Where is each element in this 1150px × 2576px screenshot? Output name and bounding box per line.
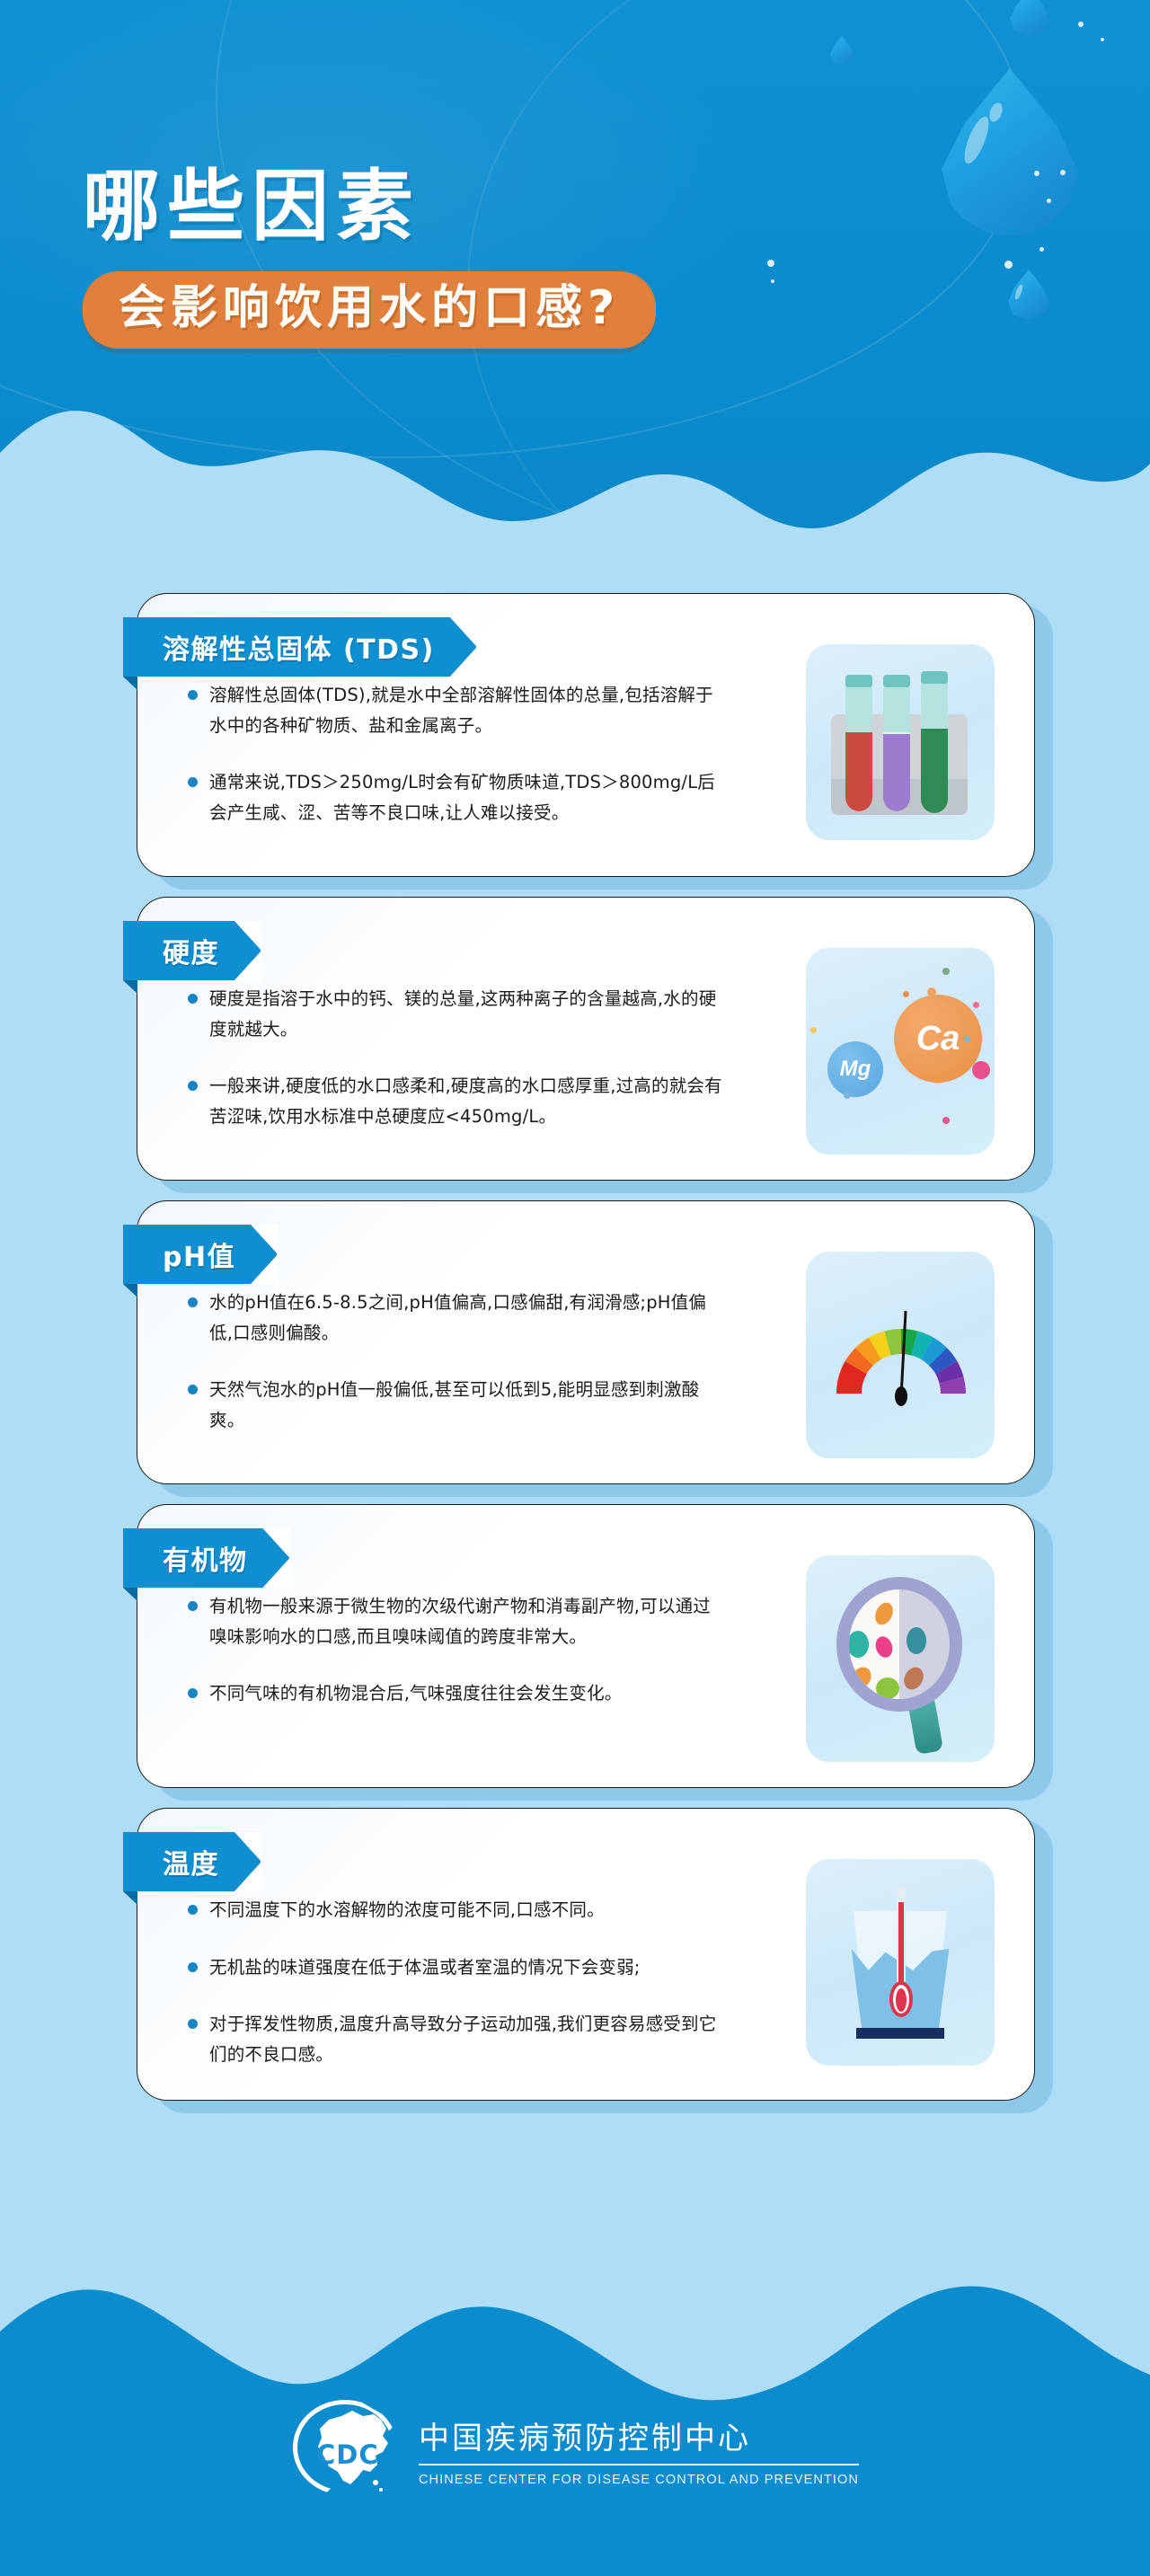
tube-cap <box>883 675 910 687</box>
card-title-ribbon: 有机物 <box>123 1528 289 1588</box>
footer-wave-divider <box>0 2279 1150 2405</box>
ion-label: Mg <box>840 1057 871 1082</box>
card-title: 溶解性总固体 (TDS) <box>163 627 435 667</box>
card-title-ribbon: 硬度 <box>123 921 261 980</box>
list-item: 不同温度下的水溶解物的浓度可能不同,口感不同。 <box>188 1895 727 1925</box>
list-item: 天然气泡水的pH值一般偏低,甚至可以低到5,能明显感到刺激酸爽。 <box>188 1375 727 1435</box>
magnifier-lens <box>836 1577 962 1712</box>
card-title-ribbon: pH值 <box>123 1225 277 1284</box>
speck-icon <box>844 1092 851 1099</box>
card-body: 有机物 有机物一般来源于微生物的次级代谢产物和消毒副产物,可以通过嗅味影响水的口… <box>137 1504 1035 1788</box>
test-tube-red <box>845 675 872 811</box>
list-item: 一般来讲,硬度低的水口感柔和,硬度高的水口感厚重,过高的就会有苦涩味,饮用水标准… <box>188 1071 727 1131</box>
microbe-icon <box>848 1664 874 1692</box>
lens-shade <box>899 1589 950 1699</box>
card-title: 硬度 <box>163 931 219 970</box>
title-block: 哪些因素 会影响饮用水的口感? <box>83 166 656 349</box>
tube-neck <box>883 687 910 732</box>
card-title: 有机物 <box>163 1538 248 1578</box>
bullet-list: 溶解性总固体(TDS),就是水中全部溶解性固体的总量,包括溶解于水中的各种矿物质… <box>188 680 727 828</box>
footer-logo-row: CDC 中国疾病预防控制中心 CHINESE CENTER FOR DISEAS… <box>0 2400 1150 2501</box>
cdc-logo-icon: CDC <box>291 2400 406 2501</box>
org-name-cn: 中国疾病预防控制中心 <box>419 2413 859 2465</box>
glass-base <box>856 2028 944 2039</box>
card-title-ribbon: 温度 <box>123 1832 261 1891</box>
list-item: 对于挥发性物质,温度升高导致分子运动加强,我们更容易感受到它们的不良口感。 <box>188 2009 727 2069</box>
ribbon-fold-icon <box>123 1588 137 1601</box>
list-item: 水的pH值在6.5-8.5之间,pH值偏高,口感偏甜,有润滑感;pH值偏低,口感… <box>188 1288 727 1348</box>
card-body: 硬度 硬度是指溶于水中的钙、镁的总量,这两种离子的含量越高,水的硬度就越大。 一… <box>137 897 1035 1181</box>
ribbon-notch-icon <box>450 617 477 677</box>
org-name-en: CHINESE CENTER FOR DISEASE CONTROL AND P… <box>419 2473 859 2487</box>
card-organics: 有机物 有机物一般来源于微生物的次级代谢产物和消毒副产物,可以通过嗅味影响水的口… <box>0 1504 1150 1788</box>
tube-liquid <box>921 725 948 813</box>
bubble-icon <box>1034 171 1039 176</box>
bullet-dot-icon <box>188 2019 198 2029</box>
tube-liquid <box>883 734 910 811</box>
bullet-text: 无机盐的味道强度在低于体温或者室温的情况下会变弱; <box>209 1952 641 1983</box>
card-body: 溶解性总固体 (TDS) 溶解性总固体(TDS),就是水中全部溶解性固体的总量,… <box>137 593 1035 877</box>
list-item: 通常来说,TDS＞250mg/L时会有矿物质味道,TDS＞800mg/L后会产生… <box>188 767 727 828</box>
bullet-dot-icon <box>188 1962 198 1972</box>
tube-cap <box>921 671 948 684</box>
card-title-ribbon: 溶解性总固体 (TDS) <box>123 617 476 677</box>
list-item: 溶解性总固体(TDS),就是水中全部溶解性固体的总量,包括溶解于水中的各种矿物质… <box>188 680 727 740</box>
bullet-text: 水的pH值在6.5-8.5之间,pH值偏高,口感偏甜,有润滑感;pH值偏低,口感… <box>209 1288 727 1348</box>
bubble-icon <box>1039 247 1044 252</box>
ribbon-notch-icon <box>251 1225 278 1284</box>
test-tube-green <box>921 671 948 813</box>
bullet-text: 有机物一般来源于微生物的次级代谢产物和消毒副产物,可以通过嗅味影响水的口感,而且… <box>209 1591 727 1651</box>
bullet-list: 硬度是指溶于水中的钙、镁的总量,这两种离子的含量越高,水的硬度就越大。 一般来讲… <box>188 984 727 1131</box>
bullet-dot-icon <box>188 1601 198 1611</box>
ribbon-fold-icon <box>123 677 137 690</box>
magnifier-microbes-icon <box>806 1555 995 1762</box>
bubble-icon <box>1078 22 1084 27</box>
bullet-dot-icon <box>188 777 198 787</box>
card-temperature: 温度 不同温度下的水溶解物的浓度可能不同,口感不同。 无机盐的味道强度在低于体温… <box>0 1808 1150 2101</box>
bubble-icon <box>1060 170 1066 175</box>
drop-gloss <box>987 101 1005 123</box>
cdc-letters: CDC <box>316 2439 379 2470</box>
microbe-icon <box>871 1599 896 1627</box>
card-ph: pH值 水的pH值在6.5-8.5之间,pH值偏高,口感偏甜,有润滑感;pH值偏… <box>0 1200 1150 1484</box>
bubble-icon <box>1047 199 1051 203</box>
speck-icon <box>927 987 936 996</box>
bubble-icon <box>1004 261 1013 269</box>
bullet-text: 一般来讲,硬度低的水口感柔和,硬度高的水口感厚重,过高的就会有苦涩味,饮用水标准… <box>209 1071 727 1131</box>
list-item: 硬度是指溶于水中的钙、镁的总量,这两种离子的含量越高,水的硬度就越大。 <box>188 984 727 1044</box>
ion-label: Ca <box>916 1020 960 1058</box>
bullet-list: 有机物一般来源于微生物的次级代谢产物和消毒副产物,可以通过嗅味影响水的口感,而且… <box>188 1591 727 1709</box>
card-title: pH值 <box>163 1235 235 1274</box>
bullet-dot-icon <box>188 690 198 700</box>
tube-neck <box>921 684 948 729</box>
bullet-text: 通常来说,TDS＞250mg/L时会有矿物质味道,TDS＞800mg/L后会产生… <box>209 767 727 828</box>
speck-icon <box>942 968 950 975</box>
list-item: 无机盐的味道强度在低于体温或者室温的情况下会变弱; <box>188 1952 727 1983</box>
bullet-text: 不同温度下的水溶解物的浓度可能不同,口感不同。 <box>209 1895 605 1925</box>
card-body: pH值 水的pH值在6.5-8.5之间,pH值偏高,口感偏甜,有润滑感;pH值偏… <box>137 1200 1035 1484</box>
subtitle-pill: 会影响饮用水的口感? <box>83 271 656 349</box>
ribbon-fold-icon <box>123 980 137 994</box>
list-item: 不同气味的有机物混合后,气味强度往往会发生变化。 <box>188 1678 727 1709</box>
tube-neck <box>845 687 872 732</box>
list-item: 有机物一般来源于微生物的次级代谢产物和消毒副产物,可以通过嗅味影响水的口感,而且… <box>188 1591 727 1651</box>
bullet-dot-icon <box>188 1297 198 1307</box>
card-tds: 溶解性总固体 (TDS) 溶解性总固体(TDS),就是水中全部溶解性固体的总量,… <box>0 593 1150 877</box>
bubble-icon <box>771 279 774 283</box>
speck-icon <box>964 1036 970 1042</box>
test-tube-purple <box>883 675 910 811</box>
org-name-block: 中国疾病预防控制中心 CHINESE CENTER FOR DISEASE CO… <box>419 2413 859 2487</box>
bullet-dot-icon <box>188 994 198 1004</box>
bullet-text: 不同气味的有机物混合后,气味强度往往会发生变化。 <box>209 1678 623 1709</box>
gauge-dial <box>826 1293 977 1401</box>
bullet-text: 对于挥发性物质,温度升高导致分子运动加强,我们更容易感受到它们的不良口感。 <box>209 2009 727 2069</box>
bullet-dot-icon <box>188 1385 198 1394</box>
microbe-icon <box>847 1631 869 1658</box>
card-title: 温度 <box>163 1842 219 1881</box>
page-title: 哪些因素 <box>83 166 656 248</box>
bullet-text: 溶解性总固体(TDS),就是水中全部溶解性固体的总量,包括溶解于水中的各种矿物质… <box>209 680 727 740</box>
mineral-ions-icon: Ca Mg <box>806 948 995 1155</box>
bullet-list: 水的pH值在6.5-8.5之间,pH值偏高,口感偏甜,有润滑感;pH值偏低,口感… <box>188 1288 727 1435</box>
ribbon-fold-icon <box>123 1891 137 1905</box>
ribbon-notch-icon <box>234 921 261 980</box>
footer: CDC 中国疾病预防控制中心 CHINESE CENTER FOR DISEAS… <box>0 2279 1150 2576</box>
bullet-text: 天然气泡水的pH值一般偏低,甚至可以低到5,能明显感到刺激酸爽。 <box>209 1375 727 1435</box>
speck-icon <box>972 1061 990 1079</box>
bubble-icon <box>1101 38 1104 41</box>
card-hardness: 硬度 硬度是指溶于水中的钙、镁的总量,这两种离子的含量越高,水的硬度就越大。 一… <box>0 897 1150 1181</box>
thermometer-bulb-fill <box>896 1988 907 2012</box>
microbe-icon <box>876 1677 899 1699</box>
bullet-dot-icon <box>188 1905 198 1915</box>
bubble-icon <box>767 260 774 267</box>
bullet-text: 硬度是指溶于水中的钙、镁的总量,这两种离子的含量越高,水的硬度就越大。 <box>209 984 727 1044</box>
ribbon-notch-icon <box>263 1528 290 1588</box>
microbe-icon <box>873 1634 896 1660</box>
speck-icon <box>810 1027 817 1033</box>
bullet-dot-icon <box>188 1081 198 1091</box>
speck-icon <box>942 1117 950 1124</box>
ribbon-fold-icon <box>123 1284 137 1297</box>
test-tubes-icon <box>806 644 995 840</box>
cards-container: 溶解性总固体 (TDS) 溶解性总固体(TDS),就是水中全部溶解性固体的总量,… <box>0 593 1150 2120</box>
tube-liquid <box>845 729 872 811</box>
ph-gauge-icon <box>806 1252 995 1458</box>
page-subtitle: 会影响饮用水的口感? <box>119 285 620 332</box>
thermometer-glass-icon <box>806 1859 995 2066</box>
ribbon-notch-icon <box>234 1832 261 1891</box>
bullet-dot-icon <box>188 1688 198 1698</box>
speck-icon <box>973 1002 979 1008</box>
speck-icon <box>903 991 909 997</box>
ion-bubble-mg: Mg <box>827 1041 883 1097</box>
tube-cap <box>845 675 872 687</box>
card-body: 温度 不同温度下的水溶解物的浓度可能不同,口感不同。 无机盐的味道强度在低于体温… <box>137 1808 1035 2101</box>
header-banner: 哪些因素 会影响饮用水的口感? <box>0 0 1150 593</box>
gauge-hub-icon <box>895 1386 907 1406</box>
bullet-list: 不同温度下的水溶解物的浓度可能不同,口感不同。 无机盐的味道强度在低于体温或者室… <box>188 1895 727 2069</box>
